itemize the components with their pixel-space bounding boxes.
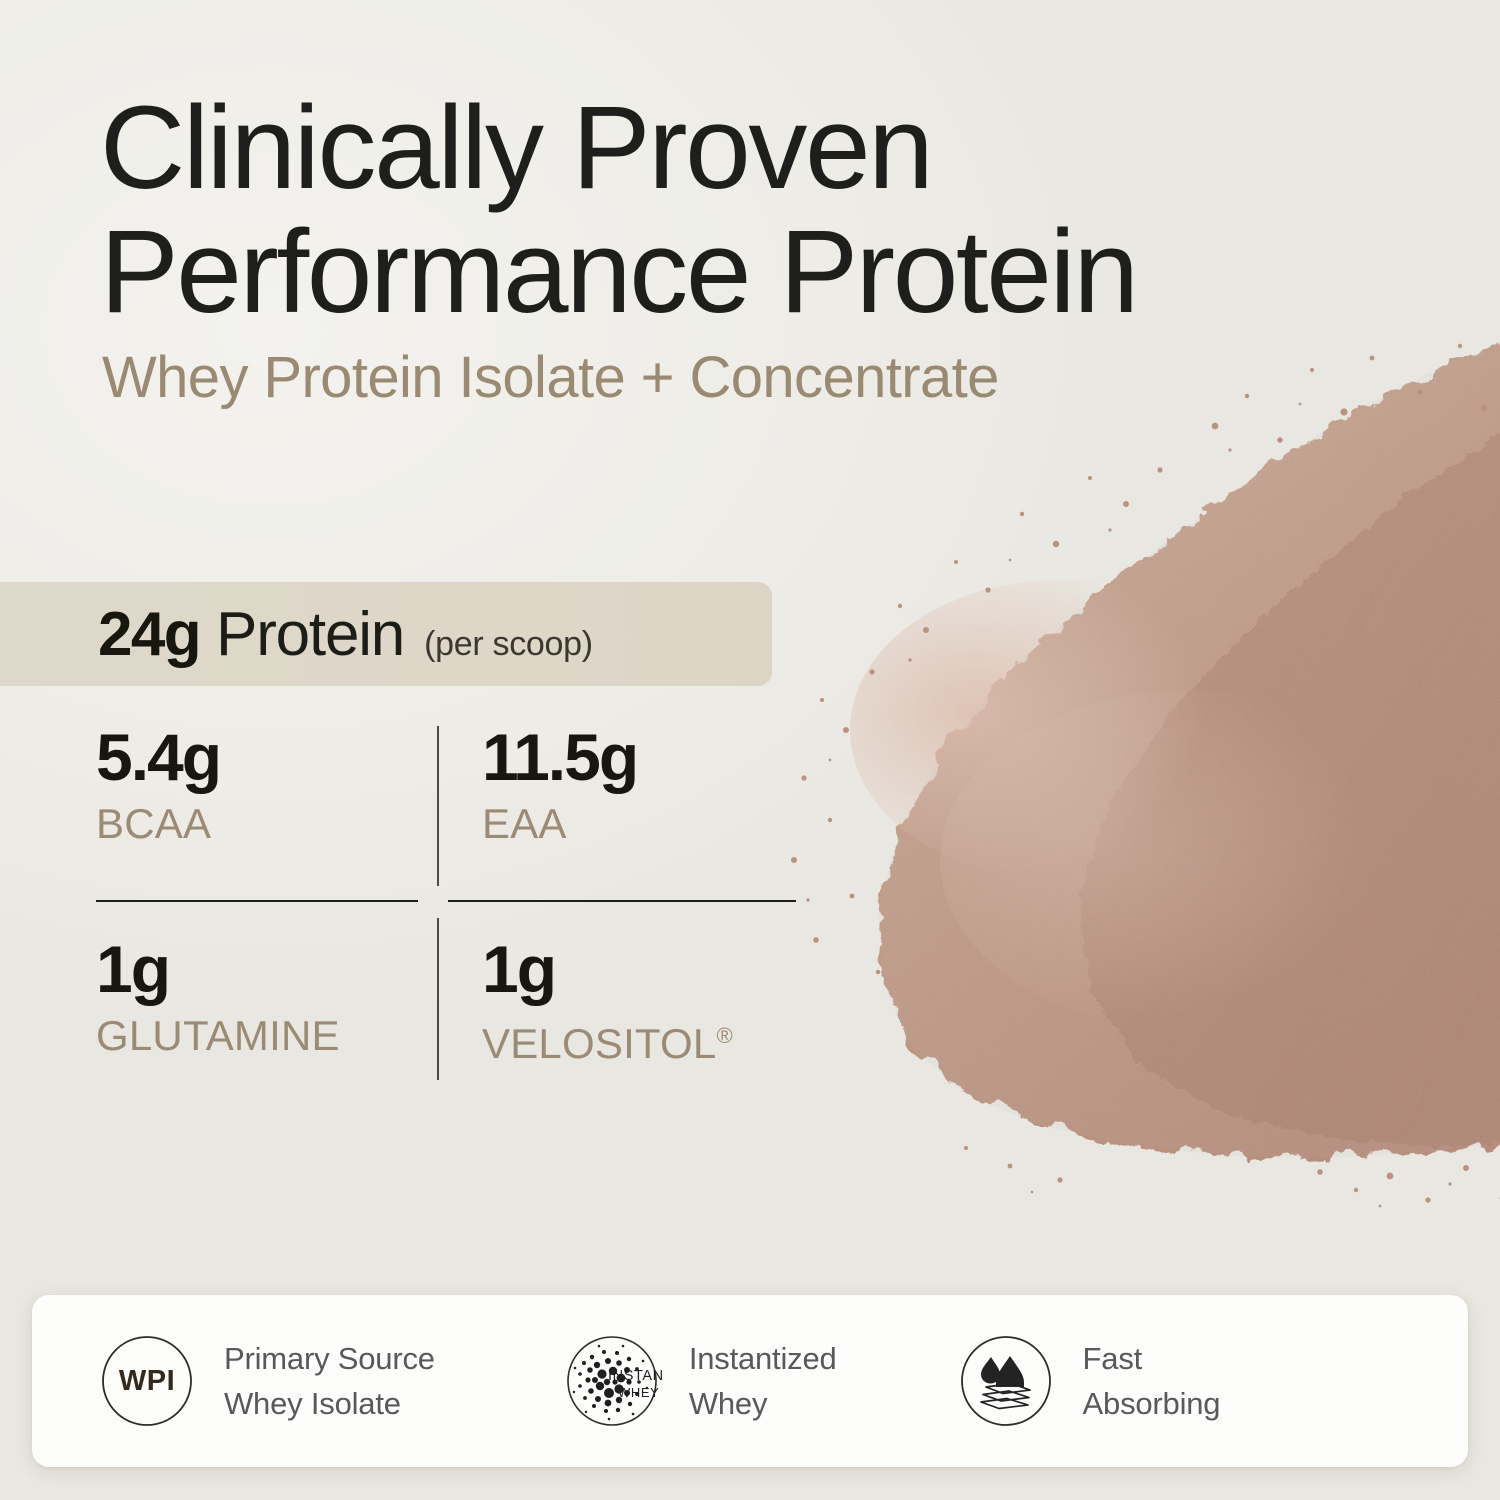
protein-label: Protein — [216, 599, 404, 670]
stats-divider-horizontal-left — [96, 900, 418, 902]
badge-fast-absorbing: Fast Absorbing — [955, 1330, 1221, 1432]
stat-label: BCAA — [96, 800, 426, 848]
registered-mark: ® — [716, 1023, 732, 1048]
stats-divider-horizontal-right — [448, 900, 796, 902]
protein-highlight-band: 24g Protein (per scoop) — [0, 582, 772, 686]
nutrition-stats-grid: 5.4g BCAA 11.5g EAA 1g GLUTAMINE 1g VELO… — [96, 722, 796, 1082]
stat-label: VELOSITOL® — [482, 1012, 812, 1068]
powder-specks — [791, 344, 1500, 1203]
stat-value: 5.4g — [96, 722, 426, 792]
badge-instantized-whey: INSTANT WHEY Instantized Whey — [561, 1330, 837, 1432]
protein-note: (per scoop) — [424, 625, 593, 664]
stats-divider-vertical-bottom — [437, 918, 439, 1080]
svg-text:WPI: WPI — [119, 1365, 175, 1397]
stat-cell-bcaa: 5.4g BCAA — [96, 722, 426, 848]
instant-whey-icon: INSTANT WHEY — [561, 1330, 663, 1432]
protein-amount: 24g — [98, 599, 200, 670]
stat-value: 1g — [482, 934, 812, 1004]
svg-text:INSTANT: INSTANT — [608, 1368, 663, 1384]
protein-powder-image — [760, 300, 1500, 1230]
badge-label: Instantized Whey — [689, 1336, 837, 1426]
svg-text:WHEY: WHEY — [618, 1385, 659, 1400]
wpi-circle-icon: WPI — [96, 1330, 198, 1432]
stats-divider-vertical-top — [437, 726, 439, 886]
product-infographic: Clinically Proven Performance Protein Wh… — [0, 0, 1500, 1500]
stat-value: 1g — [96, 934, 426, 1004]
badge-label: Fast Absorbing — [1083, 1336, 1221, 1426]
badge-primary-source: WPI Primary Source Whey Isolate — [96, 1330, 435, 1432]
stat-label: GLUTAMINE — [96, 1012, 426, 1060]
stat-cell-glutamine: 1g GLUTAMINE — [96, 934, 426, 1060]
badge-label: Primary Source Whey Isolate — [224, 1336, 435, 1426]
feature-badge-card: WPI Primary Source Whey Isolate — [32, 1295, 1468, 1467]
fast-absorbing-icon — [955, 1330, 1057, 1432]
page-subtitle: Whey Protein Isolate + Concentrate — [102, 346, 999, 410]
stat-value: 11.5g — [482, 722, 812, 792]
page-title: Clinically Proven Performance Protein — [100, 86, 1250, 334]
stat-cell-eaa: 11.5g EAA — [482, 722, 812, 848]
stat-cell-velositol: 1g VELOSITOL® — [482, 934, 812, 1068]
stat-label: EAA — [482, 800, 812, 848]
